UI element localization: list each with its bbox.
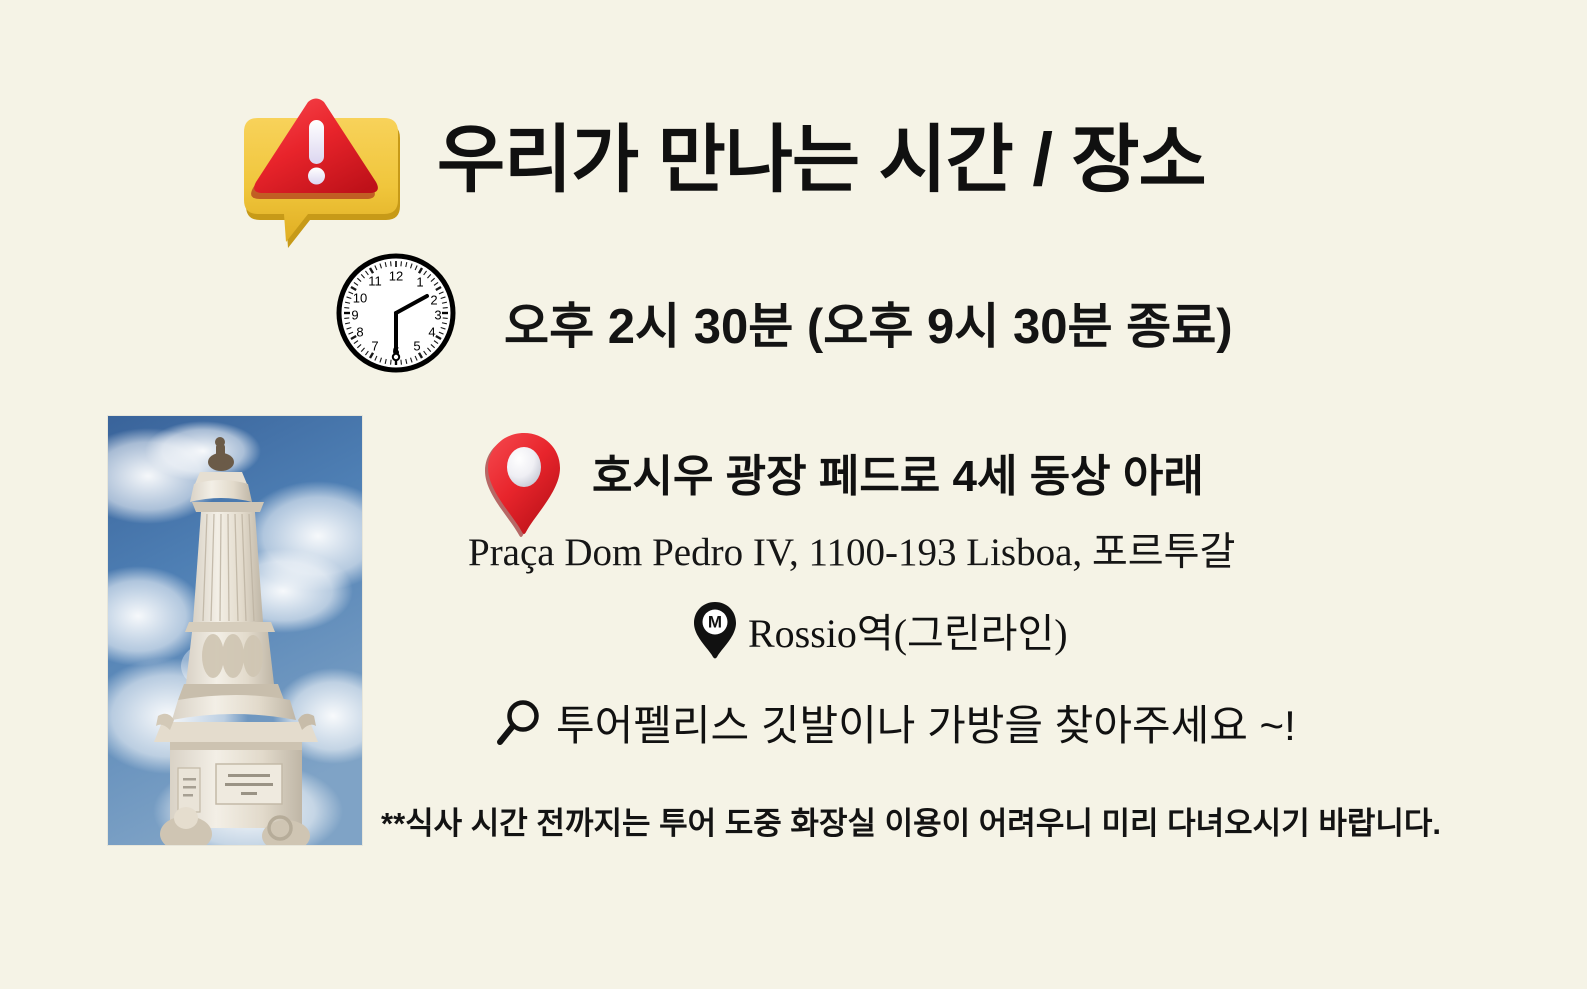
meeting-hint-row: 투어펠리스 깃발이나 가방을 찾아주세요 ~! xyxy=(494,692,1296,753)
svg-text:12: 12 xyxy=(389,269,403,284)
poster-canvas: 우리가 만나는 시간 / 장소 xyxy=(0,0,1587,989)
place-label: 호시우 광장 페드로 4세 동상 아래 xyxy=(592,440,1204,504)
svg-text:5: 5 xyxy=(413,339,420,354)
metro-label: Rossio역(그린라인) xyxy=(748,601,1068,659)
svg-text:9: 9 xyxy=(351,308,358,323)
warning-bubble-icon xyxy=(228,86,408,261)
svg-text:2: 2 xyxy=(430,293,437,308)
analog-clock-icon: 12 1 2 3 4 5 6 7 8 9 10 11 xyxy=(335,252,457,374)
footnote-label: **식사 시간 전까지는 투어 도중 화장실 이용이 어려우니 미리 다녀오시기… xyxy=(381,798,1441,843)
metro-info-row: M Rossio역(그린라인) xyxy=(692,601,1068,659)
svg-text:1: 1 xyxy=(416,275,423,290)
svg-text:11: 11 xyxy=(368,274,382,289)
magnifying-glass-icon xyxy=(494,698,542,748)
pedro-iv-monument-photo xyxy=(108,416,362,845)
page-title: 우리가 만나는 시간 / 장소 xyxy=(437,119,1206,200)
svg-text:7: 7 xyxy=(371,339,378,354)
svg-text:8: 8 xyxy=(356,325,363,340)
svg-text:4: 4 xyxy=(428,325,435,340)
meeting-time-label: 오후 2시 30분 (오후 9시 30분 종료) xyxy=(504,287,1233,358)
meeting-hint-label: 투어펠리스 깃발이나 가방을 찾아주세요 ~! xyxy=(556,692,1296,753)
svg-text:M: M xyxy=(708,613,722,632)
svg-text:3: 3 xyxy=(434,308,441,323)
address-label: Praça Dom Pedro IV, 1100-193 Lisboa, 포르투… xyxy=(468,521,1235,577)
svg-text:10: 10 xyxy=(353,291,367,306)
metro-pin-icon: M xyxy=(692,601,738,659)
